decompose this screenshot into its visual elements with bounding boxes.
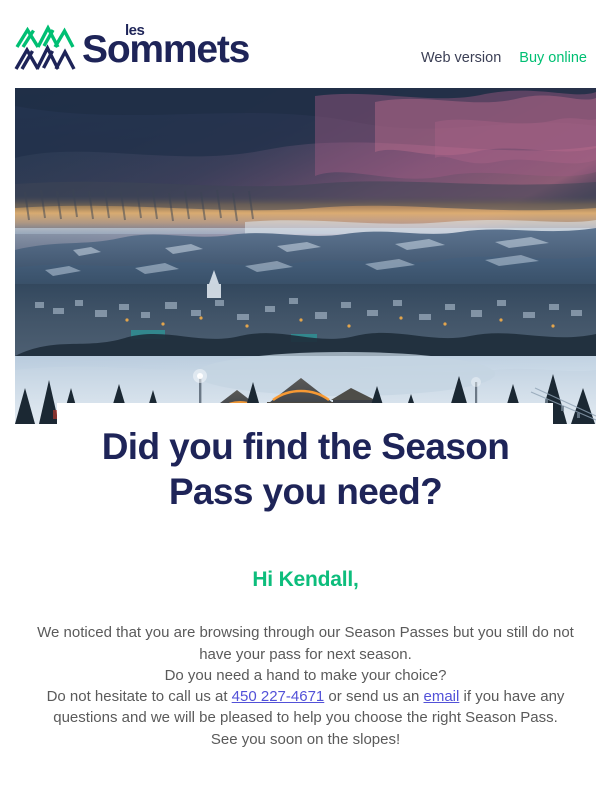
call-prefix: Do not hesitate to call us at — [47, 688, 232, 705]
page-title: Did you find the Season Pass you need? — [0, 424, 611, 514]
email-link[interactable]: email — [424, 688, 460, 705]
call-middle: or send us an — [324, 688, 423, 705]
mountain-peaks-icon — [14, 22, 76, 72]
hero-image — [15, 88, 596, 424]
email-header: les Sommets Web version Buy online — [0, 0, 611, 88]
brand-logo[interactable]: les Sommets — [14, 22, 267, 72]
brand-wordmark: les Sommets — [82, 22, 267, 72]
paragraph-help: Do you need a hand to make your choice? … — [24, 665, 587, 729]
header-links: Web version Buy online — [421, 50, 587, 66]
greeting-text: Hi Kendall, — [0, 568, 611, 592]
hero-notch-overlay — [57, 403, 553, 427]
buy-online-link[interactable]: Buy online — [519, 50, 587, 66]
logo-sommets-text: Sommets — [82, 30, 249, 69]
email-body: Did you find the Season Pass you need? H… — [0, 424, 611, 750]
body-copy: We noticed that you are browsing through… — [0, 622, 611, 750]
web-version-link[interactable]: Web version — [421, 50, 501, 66]
help-question: Do you need a hand to make your choice? — [165, 667, 447, 684]
paragraph-closing: See you soon on the slopes! — [24, 729, 587, 750]
phone-link[interactable]: 450 227-4671 — [232, 688, 325, 705]
paragraph-intro: We noticed that you are browsing through… — [24, 622, 587, 665]
